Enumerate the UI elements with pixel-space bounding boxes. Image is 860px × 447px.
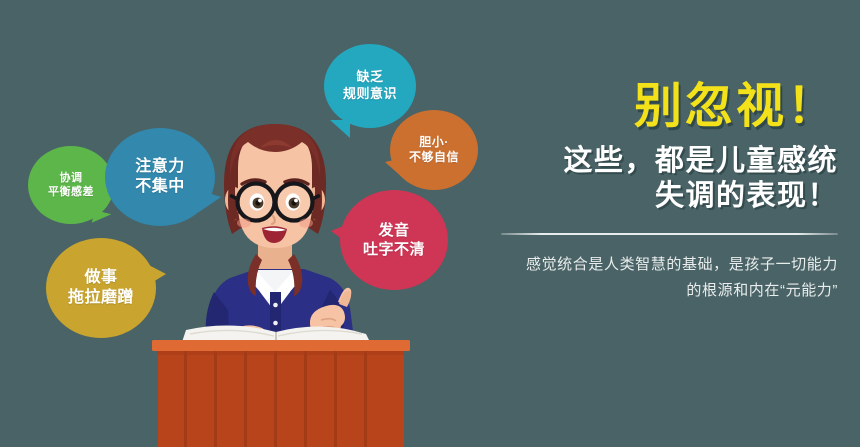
headline-sub-line2: 失调的表现！ [440, 179, 838, 214]
bubble-attention-tail [199, 190, 221, 212]
bubble-procrastination[interactable]: 做事 拖拉磨蹭 [46, 238, 156, 338]
divider-rule [501, 233, 838, 235]
bubble-speech-text: 发音 吐字不清 [363, 221, 425, 259]
bubble-rules-text: 缺乏 规则意识 [343, 69, 397, 102]
bubble-timid-tail [385, 158, 403, 178]
bubble-attention-text: 注意力 不集中 [135, 157, 185, 198]
headline-main: 别忽视！ [440, 82, 838, 132]
open-book [182, 325, 370, 342]
bubble-lacks-rule-awareness[interactable]: 缺乏 规则意识 [324, 44, 416, 128]
bubble-slow-tail [143, 262, 166, 288]
bubble-coordination-balance[interactable]: 协调 平衡感差 [28, 146, 114, 224]
headline-sub-line1: 这些，都是儿童感统 [440, 144, 838, 179]
bubble-unclear-pronunciation[interactable]: 发音 吐字不清 [340, 190, 448, 290]
podium [150, 322, 412, 447]
body-text-line1: 感觉统合是人类智慧的基础，是孩子一切能力 [440, 252, 838, 278]
body-text-line2: 的根源和内在“元能力” [440, 278, 838, 304]
bubble-rules-tail [330, 120, 350, 138]
bubble-attention-deficit[interactable]: 注意力 不集中 [105, 128, 215, 226]
copy-block: 别忽视！ 这些，都是儿童感统 失调的表现！ 感觉统合是人类智慧的基础，是孩子一切… [440, 82, 838, 304]
poster-canvas: 协调 平衡感差 注意力 不集中 缺乏 规则意识 胆小· 不够自信 发音 吐字不清… [0, 0, 860, 447]
bubble-balance-text: 协调 平衡感差 [48, 171, 94, 199]
bubble-speech-tail [331, 222, 353, 247]
bubble-slow-text: 做事 拖拉磨蹭 [68, 268, 134, 309]
